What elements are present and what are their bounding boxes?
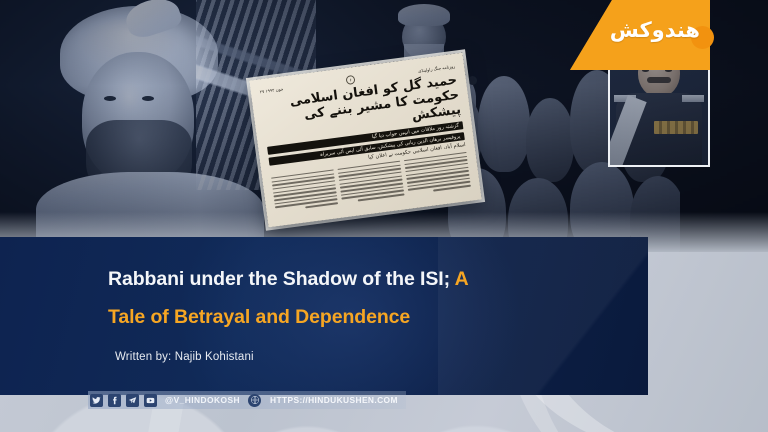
title-banner: Rabbani under the Shadow of the ISI; A T… — [0, 237, 648, 395]
telegram-icon[interactable] — [126, 394, 139, 407]
clipping-column — [271, 169, 338, 214]
youtube-icon[interactable] — [144, 394, 157, 407]
brand-logo[interactable]: هندوکش — [570, 0, 710, 70]
website-url[interactable]: HTTPS://HINDUKUSHEN.COM — [270, 395, 398, 405]
logo-text: هندوکش — [610, 20, 700, 41]
newspaper-clipping: ۲۷ جون ۱۹۹۲ ۶ روزنامه جنگ راولپنڈی حمید … — [249, 53, 481, 228]
facebook-icon[interactable] — [108, 394, 121, 407]
clipping-stamp: ۶ — [346, 75, 356, 85]
footer-bar: @V_HINDOKOSH HTTPS://HINDUKUSHEN.COM — [0, 390, 768, 410]
page-title: Rabbani under the Shadow of the ISI; A T… — [108, 260, 628, 336]
clipping-masthead-title: روزنامه جنگ راولپنڈی — [418, 64, 456, 74]
title-accent-a: A — [455, 268, 469, 290]
byline: Written by: Najib Kohistani — [115, 351, 254, 363]
clipping-date: ۲۷ جون ۱۹۹۲ — [259, 86, 283, 94]
social-card: ۲۷ جون ۱۹۹۲ ۶ روزنامه جنگ راولپنڈی حمید … — [0, 0, 768, 432]
social-handle[interactable]: @V_HINDOKOSH — [165, 395, 240, 405]
clipping-column — [404, 152, 471, 197]
title-accent-line2: Tale of Betrayal and Dependence — [108, 306, 410, 328]
title-main: Rabbani under the Shadow of the ISI; — [108, 268, 450, 290]
globe-icon — [248, 394, 261, 407]
twitter-icon[interactable] — [90, 394, 103, 407]
footer-contact-strip: @V_HINDOKOSH HTTPS://HINDUKUSHEN.COM — [88, 391, 406, 409]
clipping-column — [338, 160, 405, 205]
